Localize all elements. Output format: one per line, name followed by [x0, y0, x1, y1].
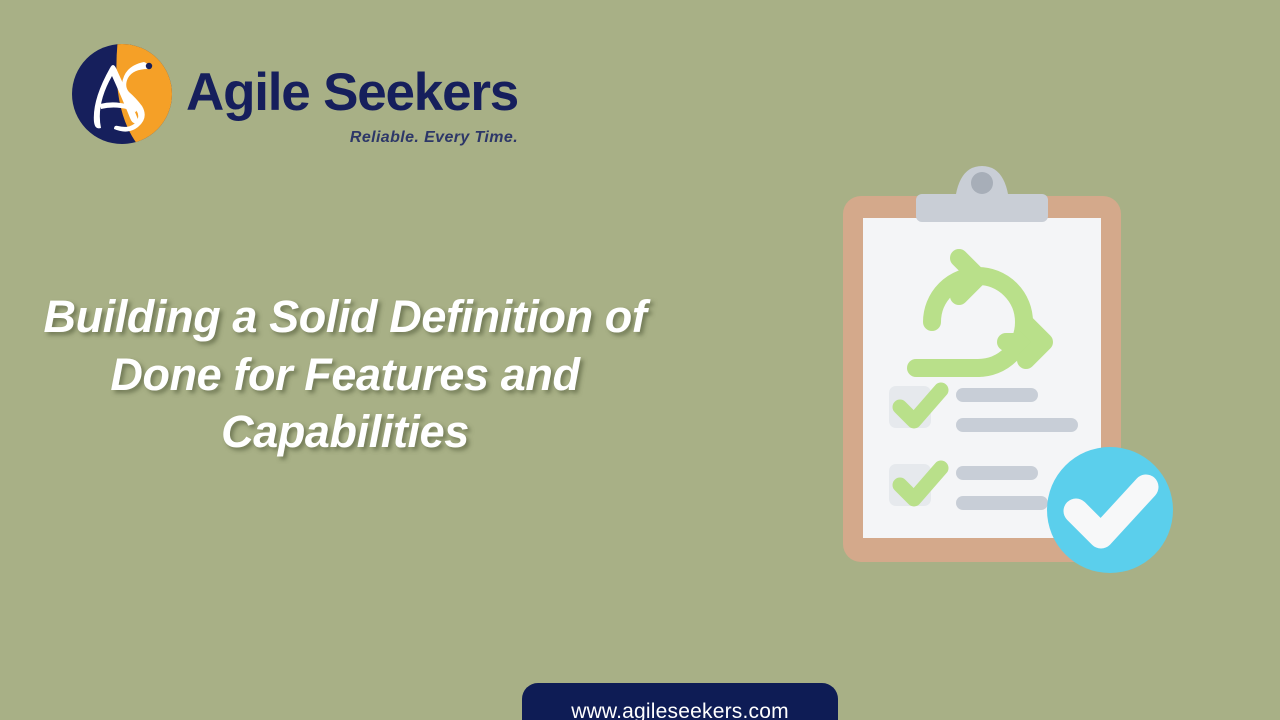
approved-badge-icon [1047, 447, 1173, 573]
page-title: Building a Solid Definition of Done for … [10, 288, 680, 461]
text-line-short [956, 388, 1038, 402]
text-line-long [956, 496, 1048, 510]
website-url-badge[interactable]: www.agileseekers.com [522, 683, 838, 720]
brand-logo[interactable]: Agile Seekers Reliable. Every Time. [70, 42, 518, 147]
text-line-short [956, 466, 1038, 480]
clipboard-checklist-illustration [828, 150, 1188, 580]
agile-seekers-monogram-icon [70, 42, 174, 146]
clipboard-clip [916, 166, 1048, 222]
text-line-long [956, 418, 1078, 432]
brand-name: Agile Seekers [186, 66, 518, 119]
brand-tagline: Reliable. Every Time. [186, 129, 518, 147]
website-url-text: www.agileseekers.com [571, 701, 789, 720]
brand-text-block: Agile Seekers Reliable. Every Time. [186, 42, 518, 147]
